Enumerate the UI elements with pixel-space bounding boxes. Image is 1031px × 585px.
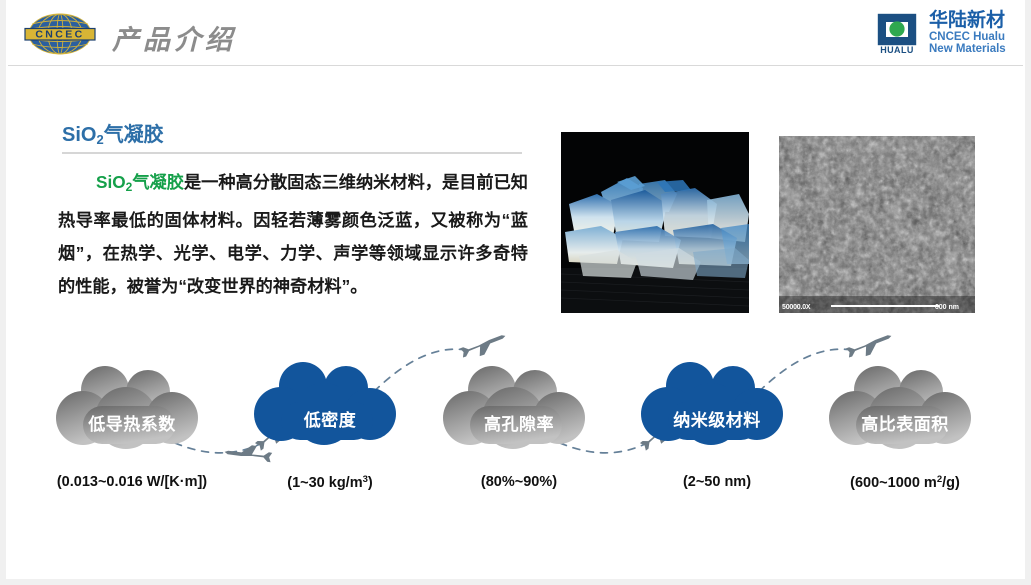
hualu-brand-logo: HUALU 华陆新材 CNCEC Hualu New Materials (877, 11, 1017, 57)
body-highlight-tail: 气凝胶 (132, 172, 184, 192)
feature-value-text-3: (2~50 nm) (683, 474, 751, 490)
feature-cloud-2[interactable]: 高孔隙率 (443, 362, 595, 457)
feature-cloud-1[interactable]: 低密度 (254, 358, 406, 453)
page-border-bottom (0, 579, 1031, 585)
cncec-globe-logo: CNCEC (18, 13, 102, 55)
svg-text:HUALU: HUALU (880, 45, 914, 55)
page-title: 产品介绍 (112, 18, 236, 57)
section-heading-subscript: 2 (96, 132, 103, 147)
body-highlight-term: SiO2气凝胶 (96, 172, 184, 192)
section-heading-divider (62, 152, 522, 154)
feature-cloud-row: 低导热系数 低密度 (0, 320, 1031, 500)
hualu-mark-icon: HUALU (877, 13, 925, 55)
sem-scale-length-label: 600 nm (935, 304, 959, 311)
feature-value-4: (600~1000 m2/g) (795, 474, 1015, 491)
feature-value-tail-1: ) (368, 475, 373, 491)
feature-value-text-2: (80%~90%) (481, 474, 557, 490)
feature-value-0: (0.013~0.016 W/[K·m]) (22, 474, 242, 490)
section-heading-main: SiO (62, 124, 96, 146)
sem-scale-bar (831, 305, 939, 307)
feature-value-3: (2~50 nm) (607, 474, 827, 490)
feature-value-text-1: (1~30 kg/m (287, 475, 362, 491)
feature-cloud-3[interactable]: 纳米级材料 (641, 358, 793, 453)
sem-magnification-label: 50000.0X (782, 304, 810, 311)
hualu-english-line-2: New Materials (929, 43, 1006, 56)
aerogel-sample-photo (561, 132, 749, 313)
svg-text:CNCEC: CNCEC (35, 29, 84, 41)
feature-cloud-4[interactable]: 高比表面积 (829, 362, 981, 457)
feature-value-text-4: (600~1000 m (850, 475, 937, 491)
feature-value-text-0: (0.013~0.016 W/[K·m]) (57, 474, 207, 490)
section-heading: SiO2气凝胶 (62, 118, 164, 147)
sem-micrograph-photo: 50000.0X 600 nm (779, 136, 975, 313)
section-heading-tail: 气凝胶 (104, 124, 164, 146)
body-paragraph: SiO2气凝胶是一种高分散固态三维纳米材料，是目前已知热导率最低的固体材料。因轻… (58, 166, 528, 303)
hualu-chinese-name: 华陆新材 (929, 11, 1005, 31)
feature-cloud-0[interactable]: 低导热系数 (56, 362, 208, 457)
header-divider (8, 65, 1023, 66)
body-highlight-main: SiO (96, 172, 126, 192)
feature-value-tail-4: /g) (942, 475, 960, 491)
feature-value-2: (80%~90%) (409, 474, 629, 490)
slide-canvas: CNCEC 产品介绍 HUALU 华陆新材 CNCEC Hualu New Ma… (0, 0, 1031, 585)
feature-value-1: (1~30 kg/m3) (220, 474, 440, 491)
slide-header: CNCEC 产品介绍 HUALU 华陆新材 CNCEC Hualu New Ma… (0, 0, 1031, 66)
